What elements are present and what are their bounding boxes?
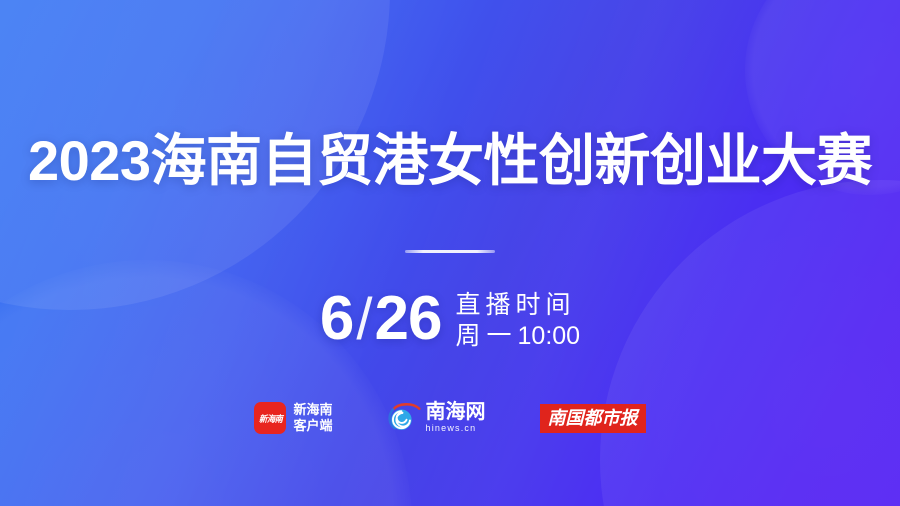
logo-nanhaiwang[interactable]: 南海网 hinews.cn — [387, 401, 486, 435]
broadcast-day: 26 — [375, 288, 442, 350]
xinhainan-mark-text: 新海南 — [259, 412, 282, 425]
live-stream-promo-poster: 2023海南自贸港女性创新创业大赛 6 / 26 直播时间 周一10:00 新海… — [0, 0, 900, 506]
partner-logos-row: 新海南 新海南 客户端 南海网 hinews.cn — [0, 398, 900, 438]
page-title: 2023海南自贸港女性创新创业大赛 — [0, 130, 900, 192]
live-weekday-time: 周一10:00 — [456, 321, 581, 352]
nanhaiwang-swirl-icon — [387, 401, 421, 435]
nanhaiwang-name-cn: 南海网 — [426, 402, 486, 423]
logo-nanguodushibao[interactable]: 南国都市报 — [540, 404, 646, 433]
xinhainan-name-line2: 客户端 — [293, 418, 332, 434]
poster-content: 2023海南自贸港女性创新创业大赛 6 / 26 直播时间 周一10:00 新海… — [0, 0, 900, 506]
nanhaiwang-name: 南海网 hinews.cn — [426, 402, 486, 434]
broadcast-date-block: 6 / 26 直播时间 周一10:00 — [0, 288, 900, 352]
nanhaiwang-name-en: hinews.cn — [426, 423, 486, 434]
live-time-label: 直播时间 — [456, 290, 581, 321]
title-divider — [405, 250, 495, 253]
nanguodushibao-banner-icon: 南国都市报 — [540, 404, 646, 433]
date-separator: / — [356, 291, 372, 349]
broadcast-weekday: 周一 — [456, 322, 518, 350]
xinhainan-name: 新海南 客户端 — [293, 402, 332, 434]
logo-xinhainan-app[interactable]: 新海南 新海南 客户端 — [254, 402, 332, 434]
xinhainan-app-icon: 新海南 — [254, 402, 286, 434]
broadcast-date: 6 / 26 — [320, 288, 442, 350]
broadcast-time-info: 直播时间 周一10:00 — [456, 288, 581, 352]
broadcast-month: 6 — [320, 288, 353, 350]
xinhainan-name-line1: 新海南 — [293, 402, 332, 418]
nanguodushibao-mark-text: 南国都市报 — [548, 408, 638, 428]
broadcast-clock: 10:00 — [518, 322, 581, 350]
